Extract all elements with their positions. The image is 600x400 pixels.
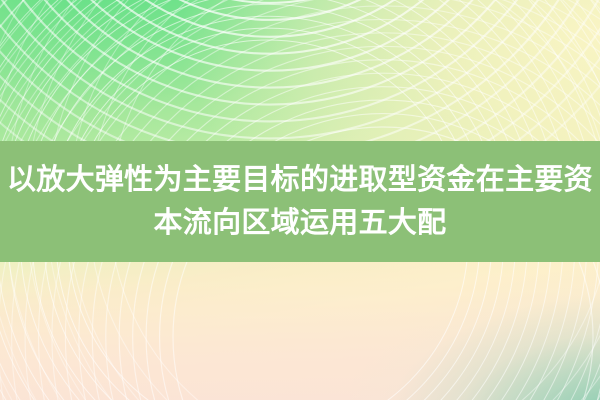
page-title: 以放大弹性为主要目标的进取型资金在主要资本流向区域运用五大配 xyxy=(0,159,600,245)
title-band: 以放大弹性为主要目标的进取型资金在主要资本流向区域运用五大配 xyxy=(0,141,600,262)
banner-graphic: 以放大弹性为主要目标的进取型资金在主要资本流向区域运用五大配 xyxy=(0,0,600,400)
